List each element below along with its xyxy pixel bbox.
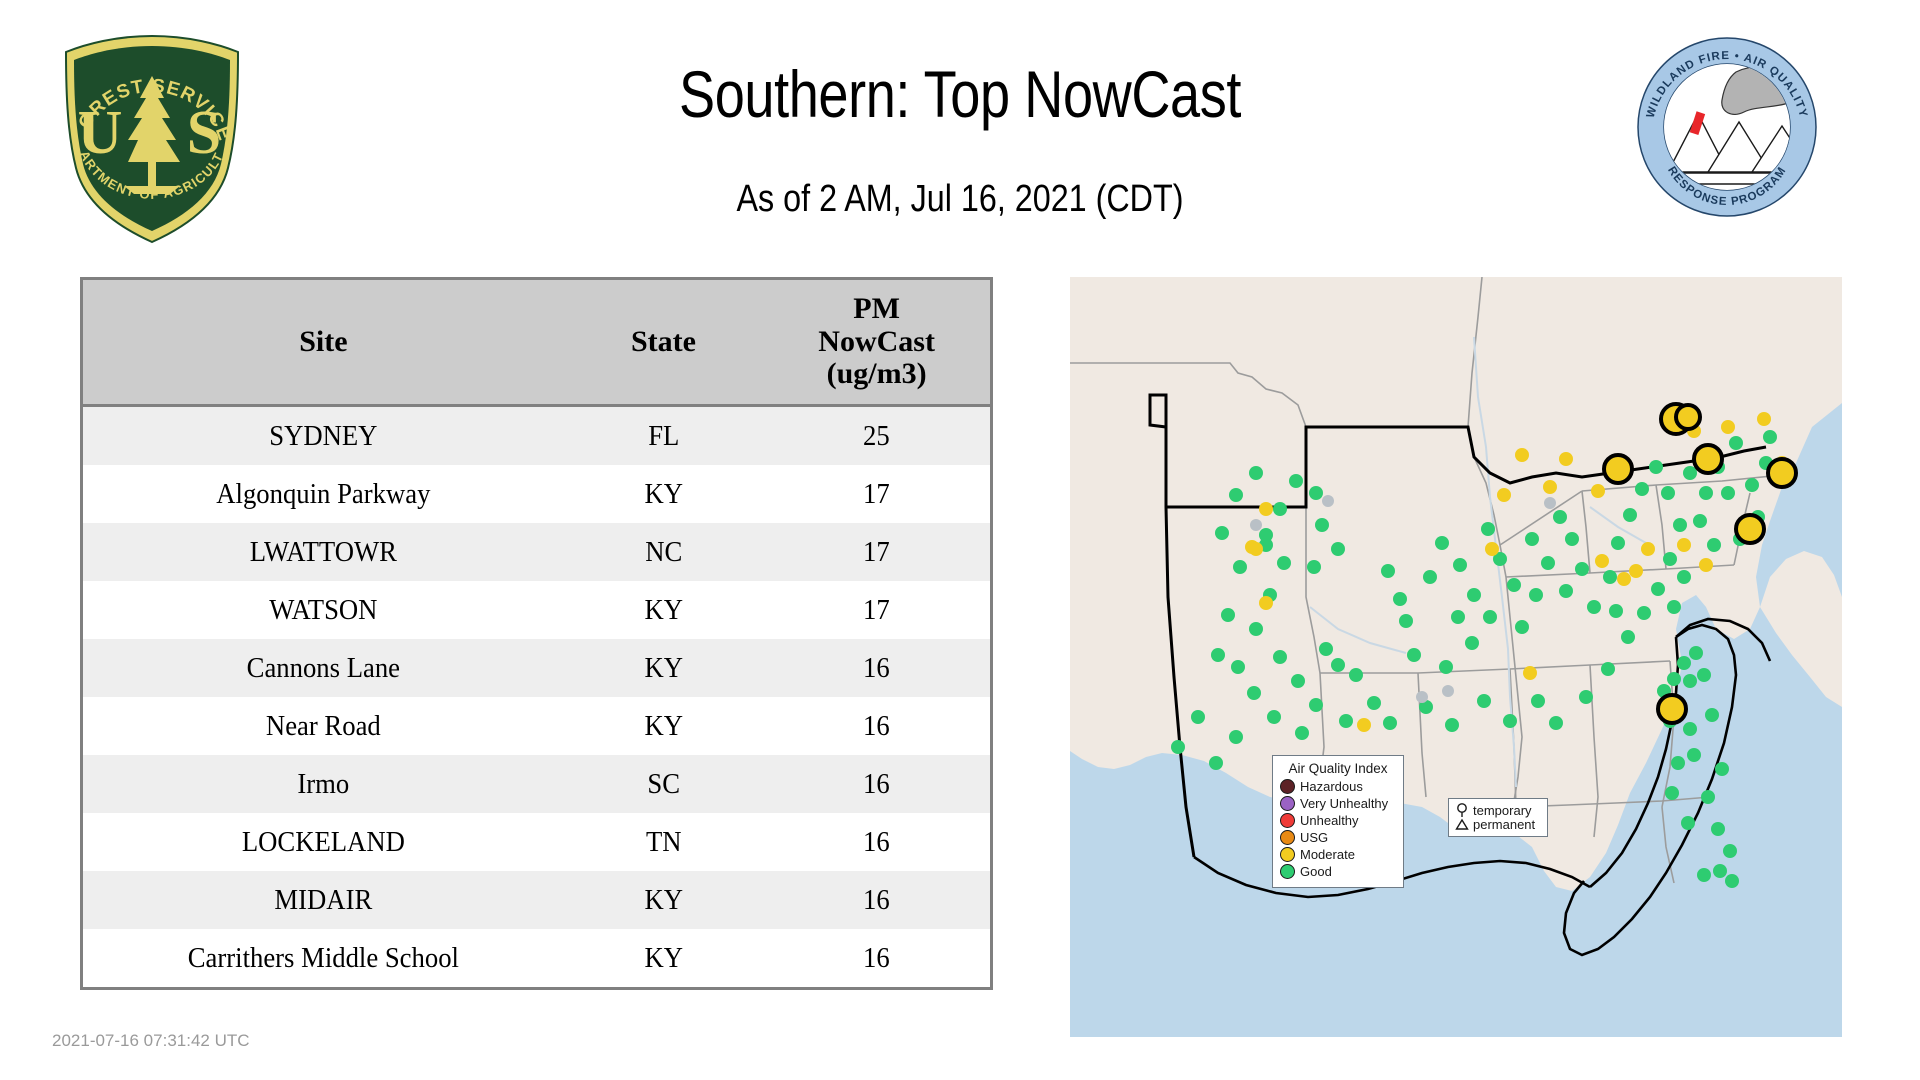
site-type-temporary: temporary (1455, 803, 1541, 818)
site-cell: Near Road (102, 697, 544, 755)
state-cell: TN (572, 813, 756, 871)
state-cell: KY (572, 465, 756, 523)
aqi-legend-label: Very Unhealthy (1300, 797, 1388, 810)
air-quality-map[interactable]: Air Quality Index HazardousVery Unhealth… (1070, 277, 1842, 1037)
column-header-site: Site (83, 280, 564, 406)
site-cell: LOCKELAND (102, 813, 544, 871)
aqi-swatch-icon (1280, 864, 1295, 879)
aqi-legend: Air Quality Index HazardousVery Unhealth… (1272, 755, 1404, 888)
table-row: LOCKELANDTN16 (83, 813, 990, 871)
page-title: Southern: Top NowCast (435, 56, 1485, 132)
table-row: Near RoadKY16 (83, 697, 990, 755)
page-subtitle: As of 2 AM, Jul 16, 2021 (CDT) (416, 178, 1504, 221)
pm-header-line-3: (ug/m3) (767, 358, 986, 390)
circle-marker-icon (1455, 803, 1469, 818)
aqi-swatch-icon (1280, 847, 1295, 862)
table-row: LWATTOWRNC17 (83, 523, 990, 581)
pm-cell: 17 (772, 523, 981, 581)
pm-header-line-1: PM (767, 293, 986, 325)
site-type-temporary-label: temporary (1473, 804, 1532, 818)
highlight-marker (1736, 515, 1764, 543)
table-row: Algonquin ParkwayKY17 (83, 465, 990, 523)
table-row: MIDAIRKY16 (83, 871, 990, 929)
highlight-marker (1658, 695, 1686, 723)
aqi-legend-label: USG (1300, 831, 1328, 844)
aqi-swatch-icon (1280, 830, 1295, 845)
aqi-legend-item: Very Unhealthy (1280, 796, 1396, 811)
table-row: Cannons LaneKY16 (83, 639, 990, 697)
site-type-permanent-label: permanent (1473, 818, 1535, 832)
site-cell: Cannons Lane (102, 639, 544, 697)
site-cell: Algonquin Parkway (102, 465, 544, 523)
highlight-marker (1768, 459, 1796, 487)
site-type-legend: temporary permanent (1448, 798, 1548, 837)
site-type-permanent: permanent (1455, 818, 1541, 832)
pm-cell: 16 (772, 755, 981, 813)
site-cell: WATSON (102, 581, 544, 639)
site-cell: LWATTOWR (102, 523, 544, 581)
pm-cell: 16 (772, 929, 981, 987)
aqi-swatch-icon (1280, 796, 1295, 811)
pm-cell: 16 (772, 871, 981, 929)
aqi-legend-label: Hazardous (1300, 780, 1363, 793)
pm-cell: 16 (772, 697, 981, 755)
state-cell: KY (572, 871, 756, 929)
column-header-pm-nowcast: PM NowCast (ug/m3) (763, 280, 990, 406)
aqi-legend-item: Moderate (1280, 847, 1396, 862)
aqi-legend-item: Good (1280, 864, 1396, 879)
table-row: Carrithers Middle SchoolKY16 (83, 929, 990, 987)
table-row: WATSONKY17 (83, 581, 990, 639)
generated-timestamp: 2021-07-16 07:31:42 UTC (52, 1031, 250, 1051)
aqi-legend-item: USG (1280, 830, 1396, 845)
wildland-fire-air-quality-logo: WILDLAND FIRE • AIR QUALITY RESPONSE PRO… (1636, 36, 1818, 218)
aqi-legend-label: Unhealthy (1300, 814, 1359, 827)
state-cell: KY (572, 581, 756, 639)
state-cell: KY (572, 929, 756, 987)
aqi-legend-label: Moderate (1300, 848, 1355, 861)
table-header-row: Site State PM NowCast (ug/m3) (83, 280, 990, 406)
site-cell: MIDAIR (102, 871, 544, 929)
pm-cell: 16 (772, 813, 981, 871)
column-header-state: State (564, 280, 764, 406)
aqi-legend-item: Hazardous (1280, 779, 1396, 794)
aqi-legend-title: Air Quality Index (1280, 761, 1396, 776)
highlight-marker (1604, 455, 1632, 483)
pm-cell: 16 (772, 639, 981, 697)
site-cell: Irmo (102, 755, 544, 813)
pm-cell: 25 (772, 406, 981, 466)
aqi-legend-label: Good (1300, 865, 1332, 878)
nowcast-table: Site State PM NowCast (ug/m3) SYDNEYFL25… (80, 277, 993, 990)
pm-header-line-2: NowCast (767, 326, 986, 358)
state-cell: NC (572, 523, 756, 581)
site-cell: Carrithers Middle School (102, 929, 544, 987)
aqi-swatch-icon (1280, 779, 1295, 794)
aqi-legend-item: Unhealthy (1280, 813, 1396, 828)
pm-cell: 17 (772, 465, 981, 523)
table-row: IrmoSC16 (83, 755, 990, 813)
table-row: SYDNEYFL25 (83, 406, 990, 466)
triangle-marker-icon (1455, 818, 1469, 831)
pm-cell: 17 (772, 581, 981, 639)
site-cell: SYDNEY (102, 406, 544, 466)
state-cell: KY (572, 639, 756, 697)
state-cell: KY (572, 697, 756, 755)
aqi-swatch-icon (1280, 813, 1295, 828)
state-cell: SC (572, 755, 756, 813)
usfs-shield-logo: FOREST SERVICE U S DEPARTMENT OF AGRICUL… (52, 28, 252, 248)
highlight-marker (1676, 405, 1700, 429)
highlight-marker (1694, 445, 1722, 473)
state-cell: FL (572, 406, 756, 466)
